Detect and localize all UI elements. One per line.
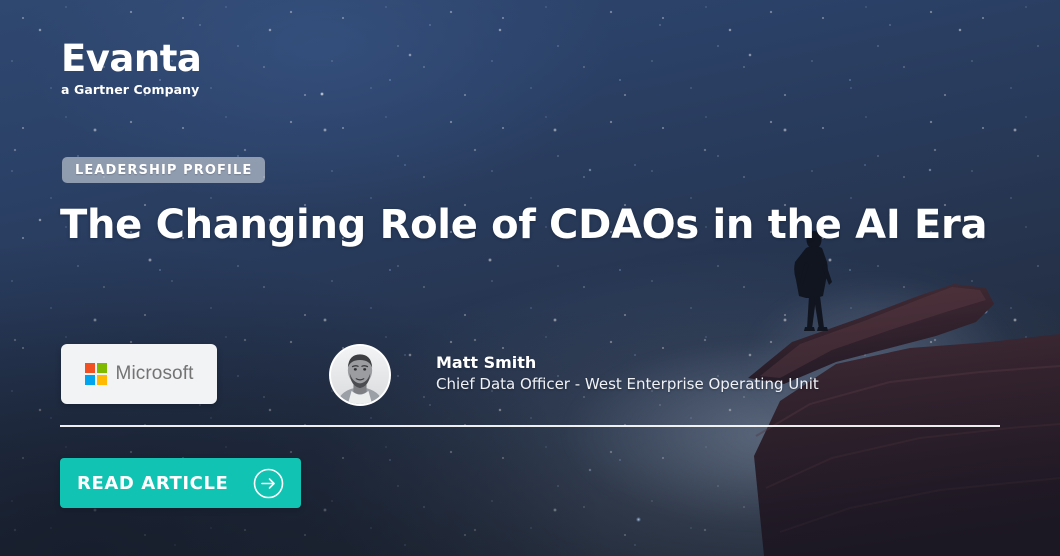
company-logo-card: Microsoft [61,344,217,404]
page-title: The Changing Role of CDAOs in the AI Era [60,203,1010,248]
microsoft-square-green [97,363,107,373]
read-article-button[interactable]: READ ARTICLE [60,458,301,508]
divider [60,425,1000,427]
status-badge-label: LEADERSHIP PROFILE [75,163,252,178]
person-info: Matt Smith Chief Data Officer - West Ent… [436,353,819,395]
read-article-label: READ ARTICLE [77,473,253,494]
evanta-logo-tagline: a Gartner Company [61,82,201,97]
company-name: Microsoft [116,363,194,385]
banner-content: Evanta a Gartner Company LEADERSHIP PROF… [0,0,1060,556]
microsoft-square-blue [85,375,95,385]
leadership-profile-banner: Evanta a Gartner Company LEADERSHIP PROF… [0,0,1060,556]
person-title: Chief Data Officer - West Enterprise Ope… [436,375,819,395]
microsoft-square-red [85,363,95,373]
evanta-logo[interactable]: Evanta a Gartner Company [61,40,201,97]
microsoft-square-yellow [97,375,107,385]
status-badge: LEADERSHIP PROFILE [62,157,265,183]
person-name: Matt Smith [436,353,819,373]
microsoft-logo-icon [85,363,107,385]
avatar [329,344,391,406]
arrow-right-circle-icon [253,468,284,499]
evanta-logo-wordmark: Evanta [61,40,201,77]
